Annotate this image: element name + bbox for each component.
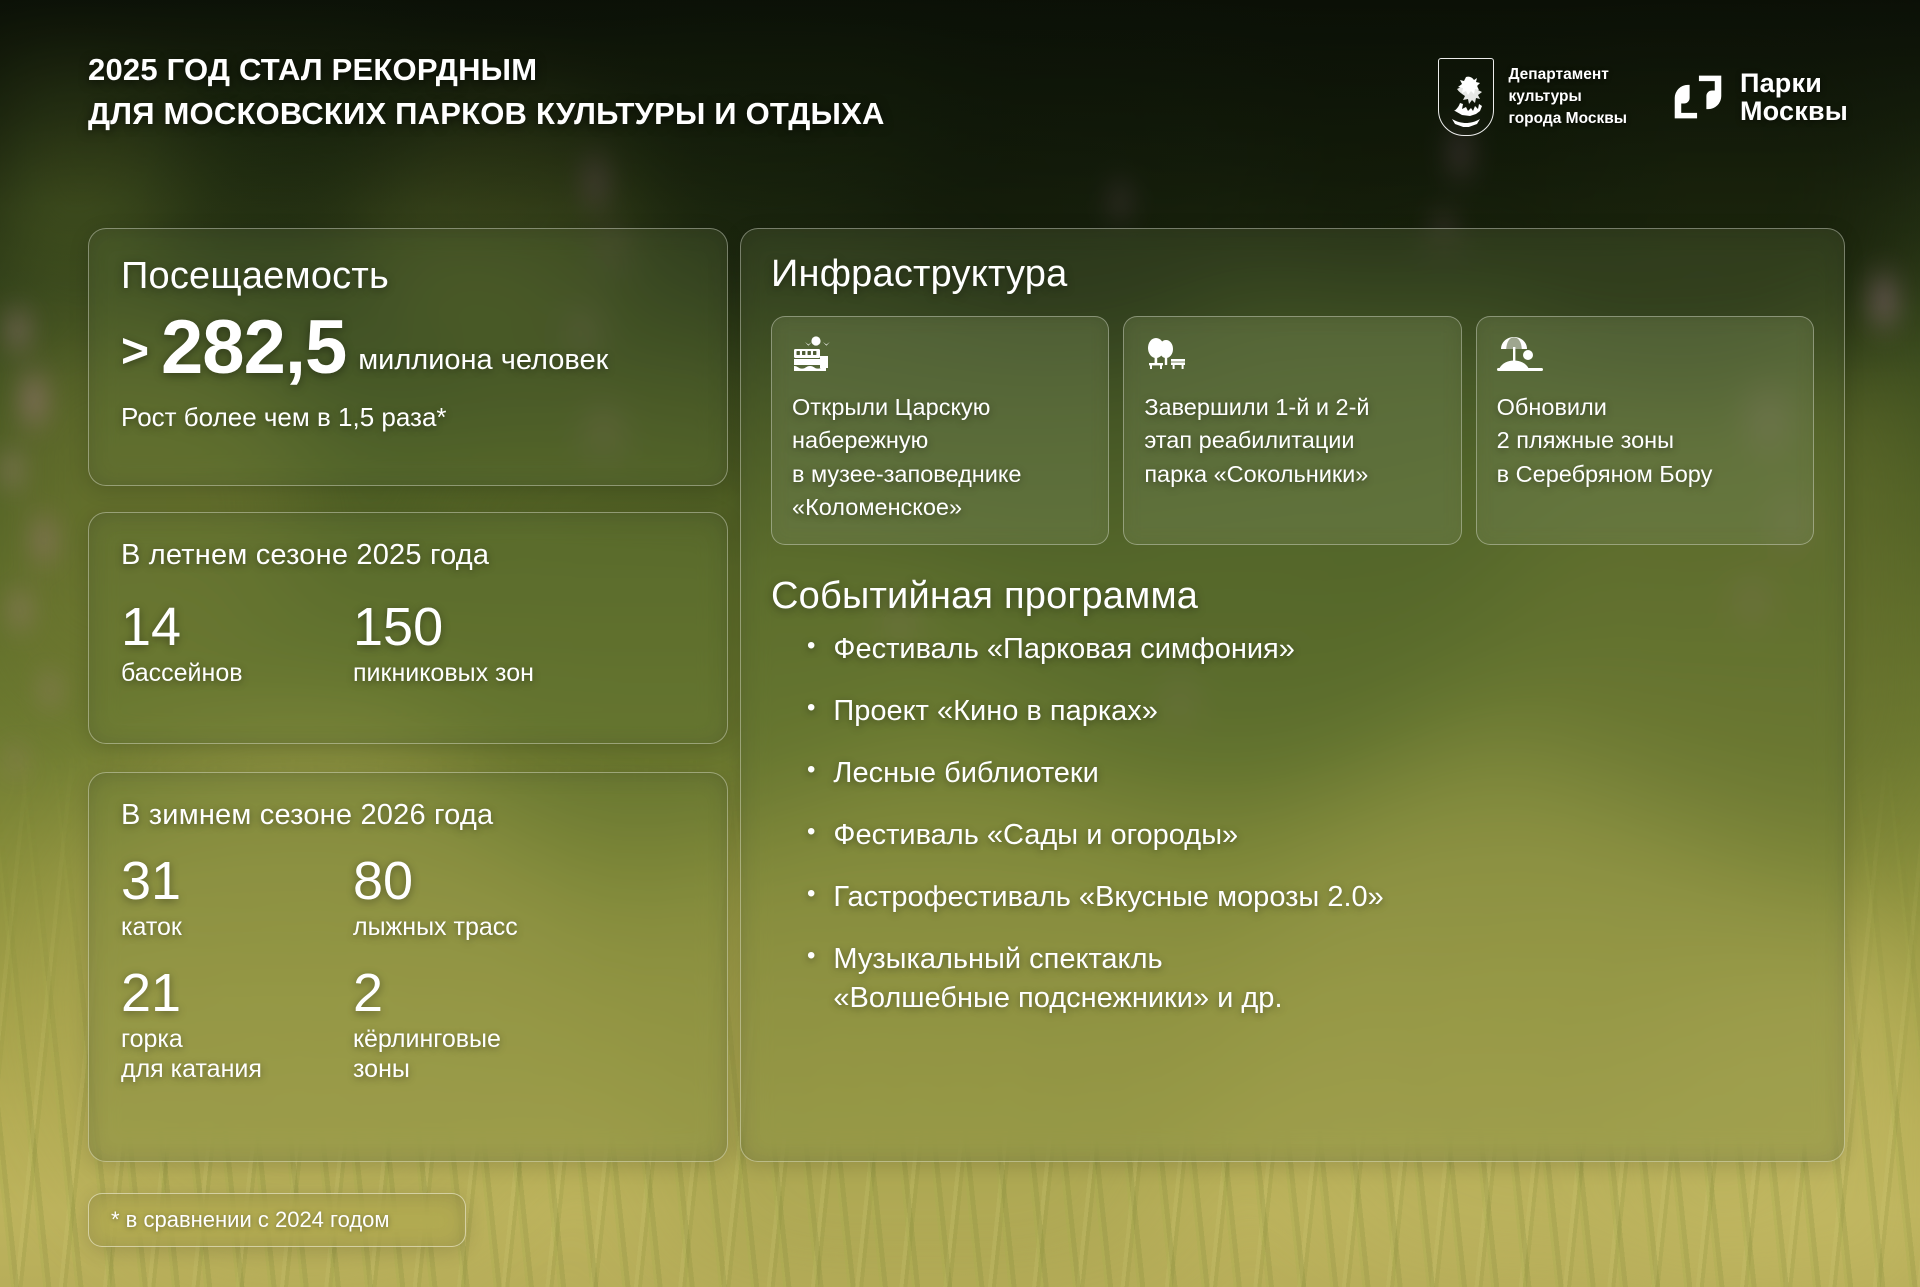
dept-line-2: культуры [1508,86,1627,108]
department-logo-text: Департамент культуры города Москвы [1508,64,1627,130]
bullet-icon: • [807,754,815,786]
attendance-panel: Посещаемость > 282,5 миллиона человек Ро… [88,228,728,486]
footnote-badge: * в сравнении с 2024 годом [88,1193,466,1247]
parks-line-2: Москвы [1740,97,1848,125]
attendance-value-row: > 282,5 миллиона человек [121,312,695,384]
summer-stat-label: пикниковых зон [353,658,695,688]
event-list-item: • Фестиваль «Сады и огороды» [771,816,1814,855]
winter-stat-number: 21 [121,966,353,1020]
infrastructure-and-events-panel: Инфраструктура [740,228,1845,1162]
moscow-coat-of-arms-icon [1438,58,1494,136]
winter-stat-label: горка для катания [121,1024,353,1084]
infrastructure-card-text: Обновили 2 пляжные зоны в Серебряном Бор… [1497,391,1793,491]
winter-stat-item: 21 горка для катания [121,966,353,1084]
summer-stat-item: 14 бассейнов [121,600,353,688]
winter-stat-item: 80 лыжных трасс [353,854,695,942]
attendance-unit: миллиона человек [358,346,608,384]
embankment-pier-icon [792,335,1088,379]
winter-stat-label: кёрлинговые зоны [353,1024,695,1084]
summer-heading: В летнем сезоне 2025 года [121,539,695,572]
event-label: Лесные библиотеки [833,754,1098,793]
winter-stat-number: 31 [121,854,353,908]
bullet-icon: • [807,692,815,724]
attendance-growth-note: Рост более чем в 1,5 раза* [121,402,695,433]
infrastructure-card-text: Завершили 1-й и 2-й этап реабилитации па… [1144,391,1440,491]
summer-stats-grid: 14 бассейнов 150 пикниковых зон [121,600,695,688]
parks-moscow-mark-icon [1671,72,1725,122]
event-list-item: • Проект «Кино в парках» [771,692,1814,731]
events-heading: Событийная программа [771,575,1814,618]
logo-group: Департамент культуры города Москвы Парки… [1438,58,1848,136]
infrastructure-card: Открыли Царскую набережную в музее-запов… [771,316,1109,545]
attendance-value: 282,5 [161,312,346,384]
header: 2025 ГОД СТАЛ РЕКОРДНЫМ ДЛЯ МОСКОВСКИХ П… [88,48,1850,148]
winter-heading: В зимнем сезоне 2026 года [121,799,695,832]
event-label: Гастрофестиваль «Вкусные морозы 2.0» [833,878,1383,917]
winter-stat-item: 31 каток [121,854,353,942]
event-list-item: • Лесные библиотеки [771,754,1814,793]
event-list-item: • Гастрофестиваль «Вкусные морозы 2.0» [771,878,1814,917]
park-trees-bench-icon [1144,335,1440,379]
dept-line-3: города Москвы [1508,108,1627,130]
infographic-canvas: 2025 ГОД СТАЛ РЕКОРДНЫМ ДЛЯ МОСКОВСКИХ П… [0,0,1920,1287]
parks-of-moscow-logo: Парки Москвы [1671,69,1848,126]
event-label: Фестиваль «Сады и огороды» [833,816,1238,855]
event-label: Музыкальный спектакль «Волшебные подснеж… [833,940,1282,1018]
footnote-text: * в сравнении с 2024 годом [89,1207,390,1233]
greater-than-symbol: > [121,328,149,384]
winter-stat-number: 2 [353,966,695,1020]
bullet-icon: • [807,940,815,972]
event-list-item: • Музыкальный спектакль «Волшебные подсн… [771,940,1814,1018]
department-of-culture-logo: Департамент культуры города Москвы [1438,58,1627,136]
summer-stat-label: бассейнов [121,658,353,688]
bullet-icon: • [807,630,815,662]
events-list: • Фестиваль «Парковая симфония» • Проект… [771,630,1814,1017]
parks-line-1: Парки [1740,69,1848,97]
event-label: Фестиваль «Парковая симфония» [833,630,1294,669]
infrastructure-heading: Инфраструктура [771,253,1814,296]
summer-stat-item: 150 пикниковых зон [353,600,695,688]
infrastructure-card-list: Открыли Царскую набережную в музее-запов… [771,316,1814,545]
infrastructure-card: Обновили 2 пляжные зоны в Серебряном Бор… [1476,316,1814,545]
winter-stats-grid: 31 каток 80 лыжных трасс 21 горка для ка… [121,854,695,1084]
summer-stat-number: 150 [353,600,695,654]
winter-stat-label: каток [121,912,353,942]
bullet-icon: • [807,878,815,910]
event-label: Проект «Кино в парках» [833,692,1158,731]
event-list-item: • Фестиваль «Парковая симфония» [771,630,1814,669]
beach-umbrella-icon [1497,335,1793,379]
infrastructure-card: Завершили 1-й и 2-й этап реабилитации па… [1123,316,1461,545]
attendance-heading: Посещаемость [121,255,695,298]
summer-season-panel: В летнем сезоне 2025 года 14 бассейнов 1… [88,512,728,744]
summer-stat-number: 14 [121,600,353,654]
winter-stat-number: 80 [353,854,695,908]
winter-season-panel: В зимнем сезоне 2026 года 31 каток 80 лы… [88,772,728,1162]
winter-stat-label: лыжных трасс [353,912,695,942]
dept-line-1: Департамент [1508,64,1627,86]
infrastructure-card-text: Открыли Царскую набережную в музее-запов… [792,391,1088,524]
winter-stat-item: 2 кёрлинговые зоны [353,966,695,1084]
parks-logo-text: Парки Москвы [1740,69,1848,126]
bullet-icon: • [807,816,815,848]
